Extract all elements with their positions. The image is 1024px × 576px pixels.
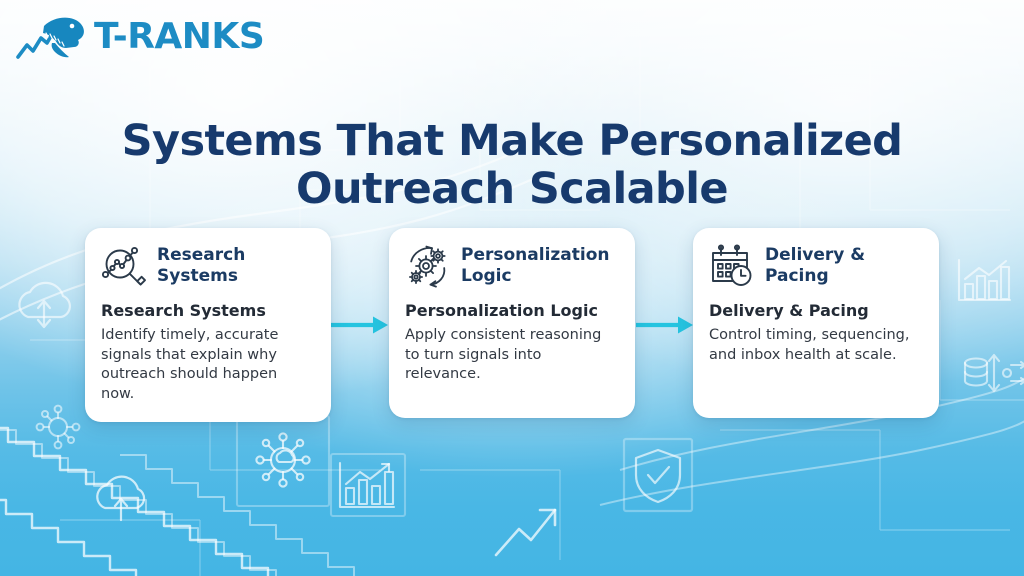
card-header: Delivery & Pacing: [709, 242, 923, 289]
magnifier-data-network-icon: [101, 243, 147, 289]
card-description: Control timing, sequencing, and inbox he…: [709, 326, 923, 365]
card-description: Identify timely, accurate signals that e…: [101, 326, 315, 404]
card-research-systems[interactable]: Research Systems Research Systems Identi…: [85, 228, 331, 422]
card-subtitle: Research Systems: [101, 301, 315, 321]
card-title: Delivery & Pacing: [765, 242, 865, 286]
page-title: Systems That Make Personalized Outreach …: [0, 117, 1024, 213]
trex-head-growth-arrow-icon: [14, 12, 88, 62]
card-header: Research Systems: [101, 242, 315, 289]
card-header: Personalization Logic: [405, 242, 619, 289]
card-description: Apply consistent reasoning to turn signa…: [405, 326, 619, 385]
network-hub-icon: [237, 416, 329, 506]
card-subtitle: Delivery & Pacing: [709, 301, 923, 321]
bar-chart-line-icon: [331, 454, 405, 516]
calendar-clock-icon: [709, 243, 755, 289]
card-title: Personalization Logic: [461, 242, 610, 286]
gears-cycle-icon: [405, 243, 451, 289]
infographic-canvas: T-RANKS Systems That Make Personalized O…: [0, 0, 1024, 576]
shield-check-icon: [624, 439, 692, 511]
brand-logo[interactable]: T-RANKS: [14, 12, 264, 62]
card-title: Research Systems: [157, 242, 245, 286]
cloud-upload-icon: [97, 477, 144, 520]
process-cards-row: Research Systems Research Systems Identi…: [0, 228, 1024, 428]
card-subtitle: Personalization Logic: [405, 301, 619, 321]
trending-up-arrow-icon: [496, 510, 555, 555]
card-delivery-pacing[interactable]: Delivery & Pacing Delivery & Pacing Cont…: [693, 228, 939, 418]
brand-name: T-RANKS: [94, 19, 264, 55]
card-personalization-logic[interactable]: Personalization Logic Personalization Lo…: [389, 228, 635, 418]
